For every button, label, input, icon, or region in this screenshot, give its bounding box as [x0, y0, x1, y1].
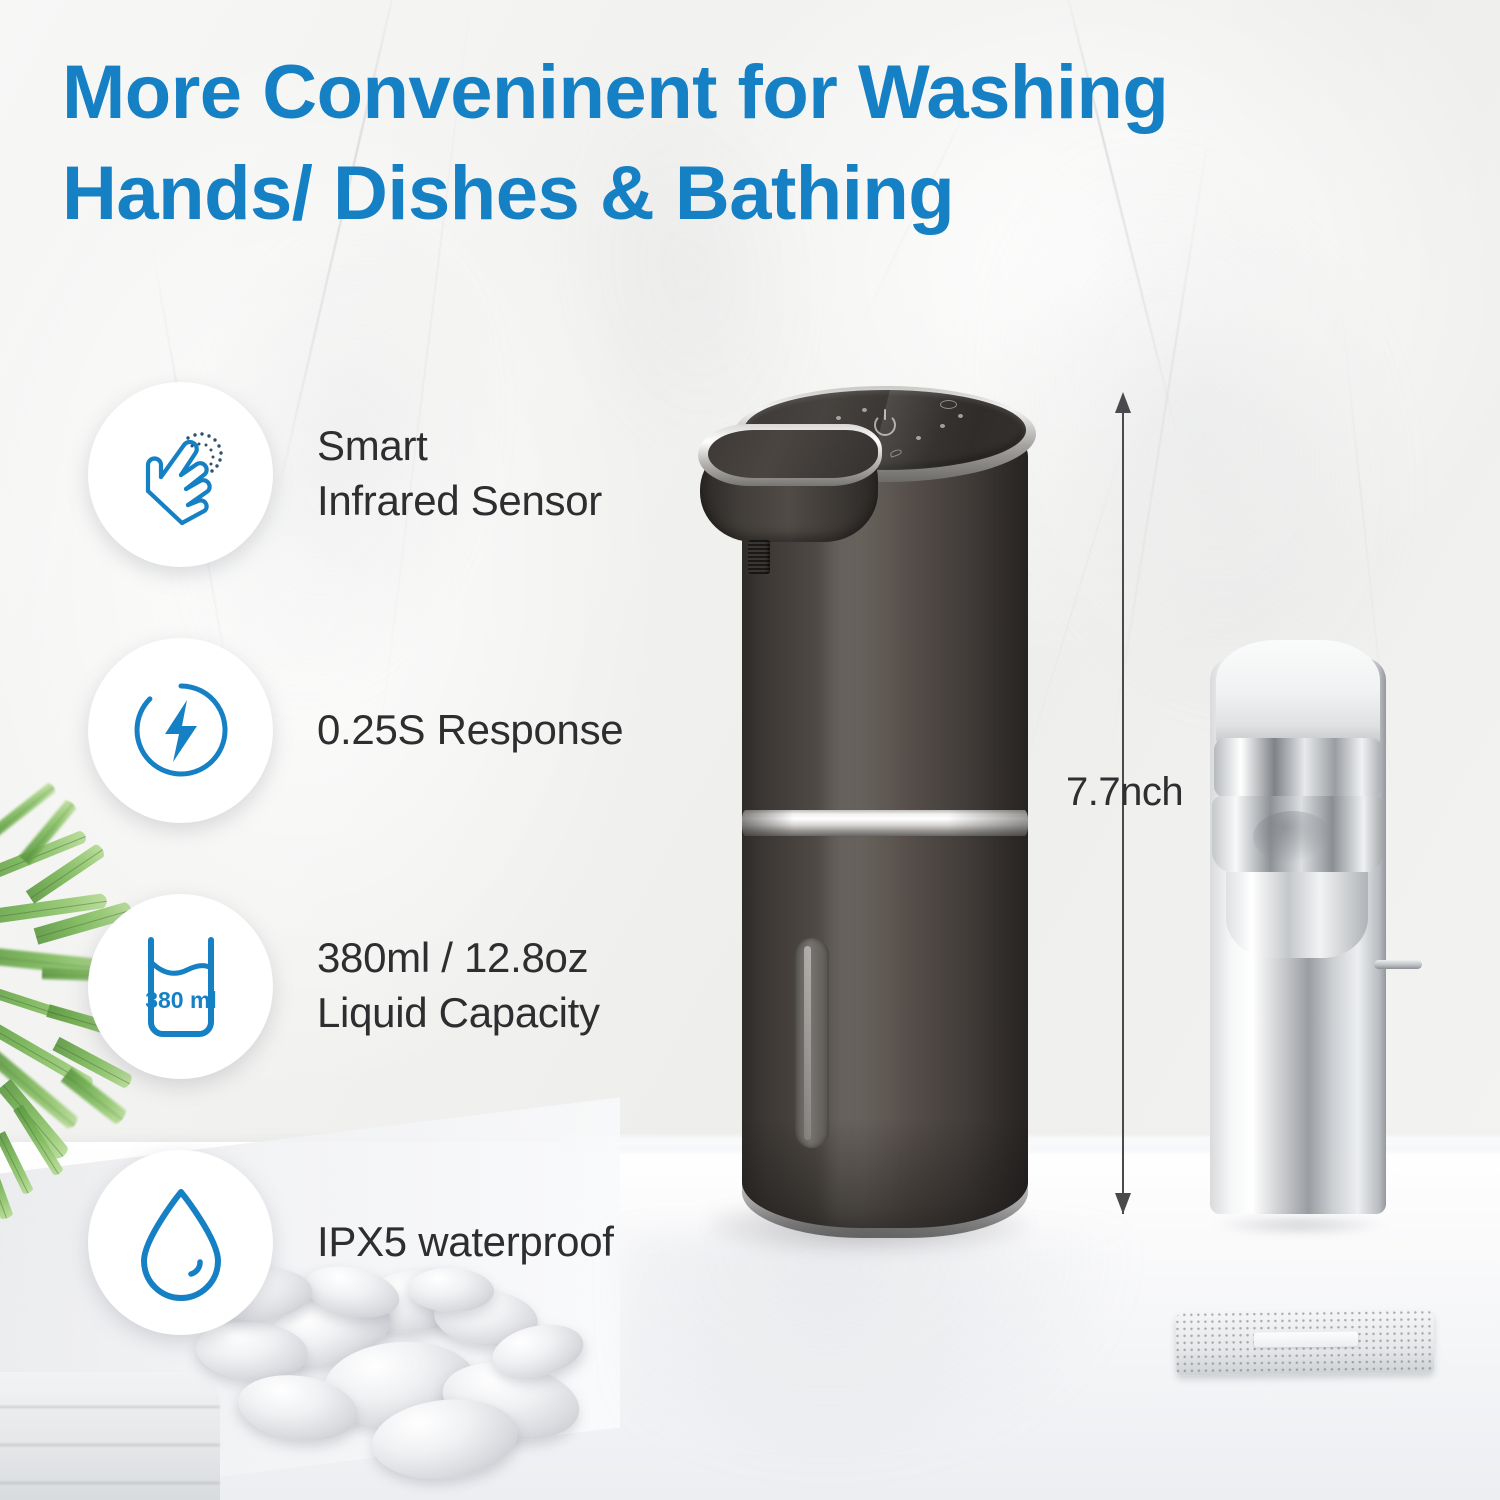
feature-label: Smart Infrared Sensor — [317, 419, 602, 528]
automatic-soap-dispenser — [700, 378, 1030, 1238]
headline-line-2: Hands/ Dishes & Bathing — [62, 143, 1422, 244]
feature-label: 380ml / 12.8oz Liquid Capacity — [317, 931, 600, 1040]
headline-line-1: More Conveninent for Washing — [62, 42, 1422, 143]
feature-label: 0.25S Response — [317, 703, 623, 758]
feature-list: Smart Infrared Sensor 0.25S Response — [88, 386, 728, 1330]
feature-icon-badge — [88, 638, 273, 823]
lightning-bolt-speed-icon — [125, 674, 237, 786]
feature-item-smart-infrared-sensor: Smart Infrared Sensor — [88, 386, 728, 562]
chrome-band — [742, 810, 1028, 836]
feature-label: IPX5 waterproof — [317, 1215, 614, 1270]
dimension-label: 7.7nch — [1066, 770, 1183, 815]
feature-item-waterproof: IPX5 waterproof — [88, 1154, 728, 1330]
beaker-capacity-icon: 380 ml — [125, 926, 237, 1046]
feature-label-line-1: 0.25S Response — [317, 703, 623, 758]
palm-frond — [0, 1131, 34, 1195]
dispenser-nozzle — [748, 540, 770, 574]
faucet-lever-handle — [1374, 960, 1422, 969]
page-title: More Conveninent for Washing Hands/ Dish… — [62, 42, 1422, 244]
feature-icon-badge: 380 ml — [88, 894, 273, 1079]
product-infographic: 7.7nch More Conveninent for Washing Hand… — [0, 0, 1500, 1500]
feature-item-liquid-capacity: 380 ml 380ml / 12.8oz Liquid Capacity — [88, 898, 728, 1074]
beaker-volume-label: 380 ml — [145, 987, 217, 1013]
water-droplet-icon — [128, 1182, 234, 1302]
feature-icon-badge — [88, 1150, 273, 1335]
indicator-ring-icon — [940, 400, 957, 409]
feature-label-line-1: 380ml / 12.8oz — [317, 931, 600, 986]
soap-level-window — [795, 938, 829, 1148]
feature-item-response-time: 0.25S Response — [88, 642, 728, 818]
power-button-icon — [874, 414, 896, 436]
feature-label-line-2: Infrared Sensor — [317, 474, 602, 529]
chrome-faucet — [1196, 640, 1426, 1240]
hand-touch-sensor-icon — [126, 419, 236, 529]
sink-overflow-drain-cover — [1176, 1311, 1435, 1376]
foam-mode-icon — [889, 448, 902, 457]
feature-icon-badge — [88, 382, 273, 567]
arrow-down-icon — [1115, 1193, 1131, 1214]
feature-label-line-1: IPX5 waterproof — [317, 1215, 614, 1270]
feature-label-line-1: Smart — [317, 419, 602, 474]
folded-towel — [0, 1372, 220, 1500]
feature-label-line-2: Liquid Capacity — [317, 986, 600, 1041]
